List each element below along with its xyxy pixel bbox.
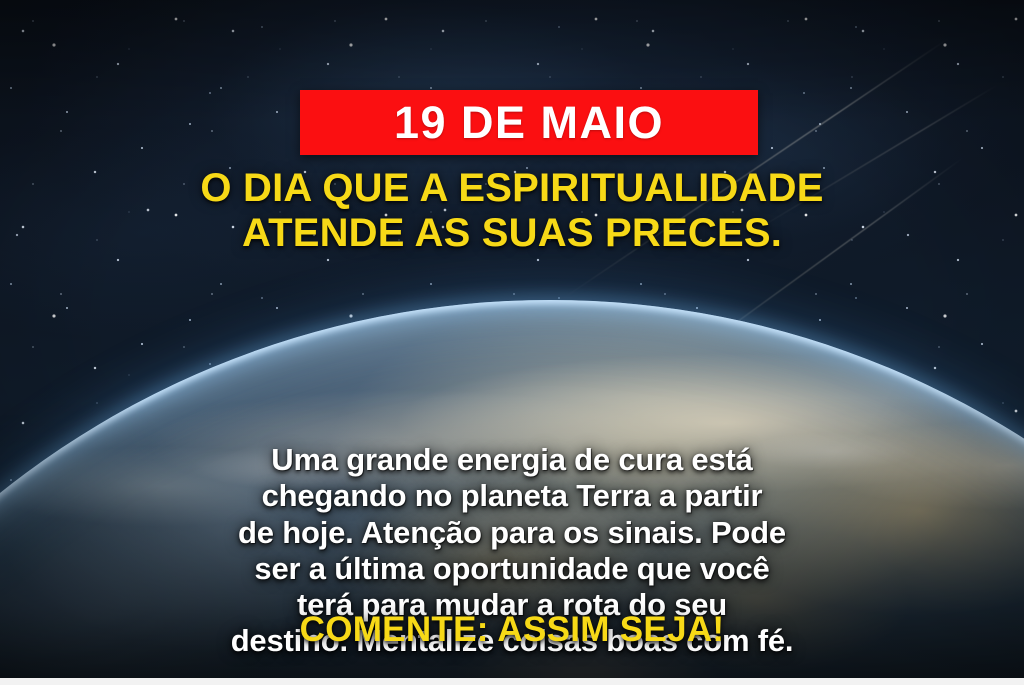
- date-banner: 19 DE MAIO: [300, 90, 758, 155]
- body-line-1: Uma grande energia de cura está: [50, 442, 974, 478]
- headline: O DIA QUE A ESPIRITUALIDADE ATENDE AS SU…: [0, 166, 1024, 256]
- headline-line-2: ATENDE AS SUAS PRECES.: [0, 211, 1024, 256]
- poster-canvas: 19 DE MAIO O DIA QUE A ESPIRITUALIDADE A…: [0, 0, 1024, 685]
- body-line-3: de hoje. Atenção para os sinais. Pode: [50, 515, 974, 551]
- bottom-edge-strip: [0, 678, 1024, 685]
- date-banner-text: 19 DE MAIO: [394, 100, 664, 145]
- headline-line-1: O DIA QUE A ESPIRITUALIDADE: [200, 166, 823, 210]
- poster-content: 19 DE MAIO O DIA QUE A ESPIRITUALIDADE A…: [0, 0, 1024, 685]
- body-line-4: ser a última oportunidade que você: [50, 551, 974, 587]
- body-line-2: chegando no planeta Terra a partir: [50, 478, 974, 514]
- call-to-action-text: COMENTE: ASSIM SEJA!: [0, 612, 1024, 647]
